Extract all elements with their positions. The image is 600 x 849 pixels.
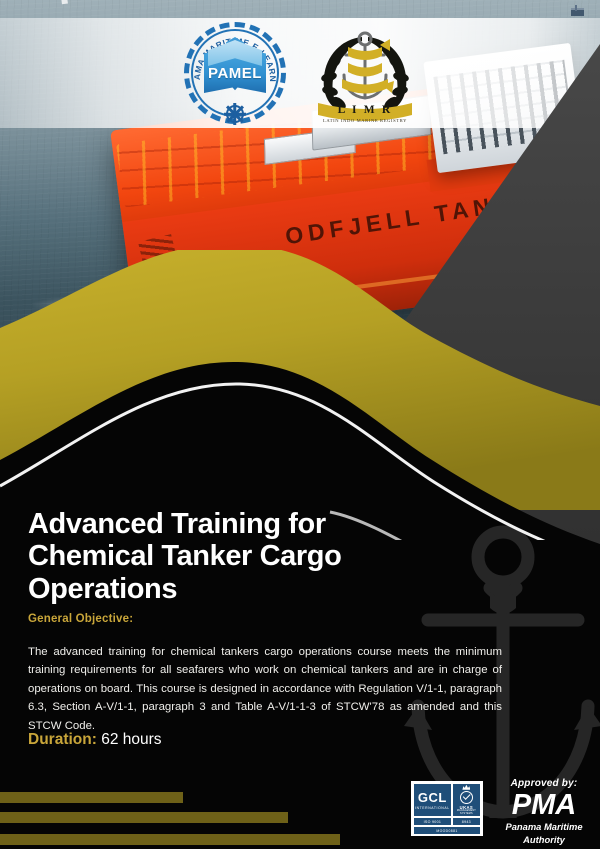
duration-value: 62 hours — [101, 731, 161, 748]
page-title: Advanced Training for Chemical Tanker Ca… — [28, 508, 448, 605]
approved-by-label: Approved by: — [490, 778, 598, 789]
ukas-block: UKAS MANAGEMENT SYSTEMS — [453, 784, 480, 816]
ukas-sub-label: MANAGEMENT SYSTEMS — [453, 810, 480, 816]
gcl-brand-block: GCL INTERNATIONAL — [414, 784, 451, 816]
duration-label: Duration: — [28, 731, 97, 748]
pma-authority-line2: Authority — [490, 834, 598, 845]
pma-acronym: PMA — [490, 790, 598, 820]
pma-approval-logo: Approved by: PMA Panama Maritime Authori… — [490, 778, 598, 845]
cert-label: 8943 — [453, 818, 480, 825]
content-layer: Advanced Training for Chemical Tanker Ca… — [0, 0, 600, 849]
gcl-brand-sub: INTERNATIONAL — [415, 806, 450, 810]
objective-text: The advanced training for chemical tanke… — [28, 643, 502, 735]
pma-authority-line1: Panama Maritime — [490, 821, 598, 832]
checkmark-icon — [460, 791, 473, 804]
objective-label: General Objective: — [28, 613, 133, 625]
course-poster: ODFJELL TANKERS — [0, 0, 600, 849]
gcl-brand: GCL — [418, 791, 447, 804]
crown-icon — [462, 785, 470, 790]
cert-number: MOOD0881 — [414, 827, 480, 834]
iso-label: ISO 9001 — [414, 818, 451, 825]
gcl-certification-badge: GCL INTERNATIONAL UKAS MANAGEMENT SYSTEM… — [411, 781, 483, 836]
duration-line: Duration: 62 hours — [28, 731, 162, 749]
